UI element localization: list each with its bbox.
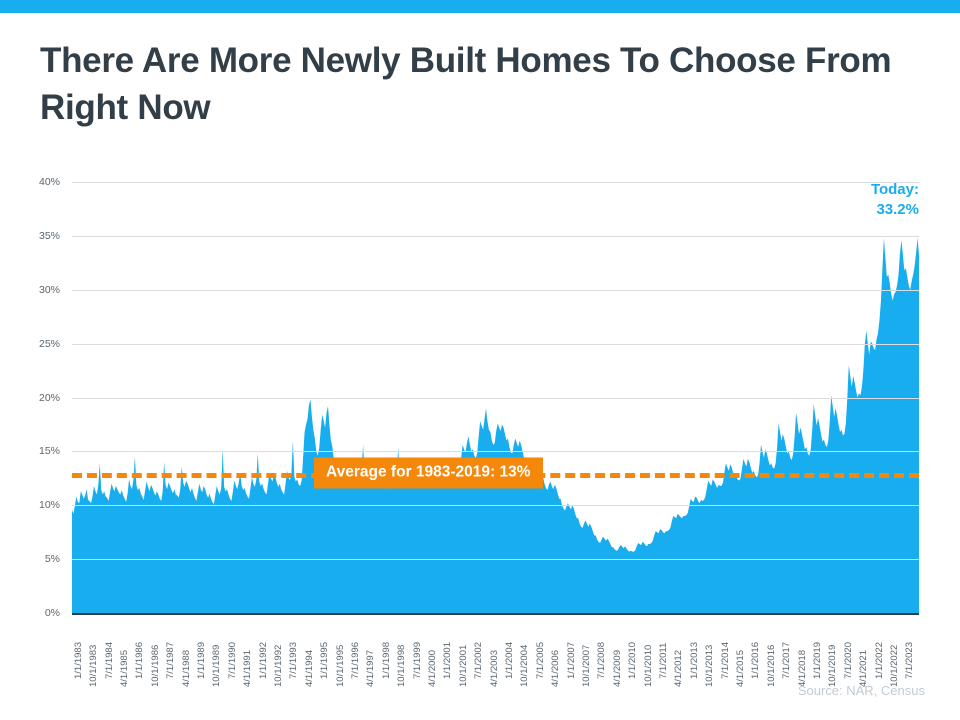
y-axis-tick: 15% bbox=[39, 445, 60, 457]
y-axis-tick: 30% bbox=[39, 284, 60, 296]
x-axis-tick: 7/1/1993 bbox=[288, 642, 299, 679]
x-axis-tick: 1/1/2013 bbox=[689, 642, 700, 679]
x-axis-tick: 10/1/1989 bbox=[211, 645, 222, 687]
x-axis-tick: 4/1/1991 bbox=[242, 650, 253, 687]
area-chart: 0%5%10%15%20%25%30%35%40% Average for 19… bbox=[0, 0, 960, 720]
y-axis-tick: 10% bbox=[39, 499, 60, 511]
x-axis-tick: 1/1/1989 bbox=[196, 642, 207, 679]
x-axis-tick: 4/1/2006 bbox=[550, 650, 561, 687]
x-axis-tick: 4/1/1994 bbox=[304, 650, 315, 687]
y-axis-tick: 0% bbox=[45, 607, 60, 619]
x-axis-tick: 7/1/1990 bbox=[227, 642, 238, 679]
y-axis-tick: 25% bbox=[39, 338, 60, 350]
gridline bbox=[72, 398, 919, 399]
x-axis-tick: 7/1/1987 bbox=[165, 642, 176, 679]
gridline bbox=[72, 505, 919, 506]
x-axis-tick: 7/1/2002 bbox=[473, 642, 484, 679]
x-axis-tick: 1/1/2010 bbox=[627, 642, 638, 679]
x-axis-tick: 7/1/2014 bbox=[720, 642, 731, 679]
y-axis-tick: 35% bbox=[39, 230, 60, 242]
x-axis-tick: 1/1/1986 bbox=[134, 642, 145, 679]
gridline bbox=[72, 182, 919, 183]
x-axis-tick: 4/1/2009 bbox=[612, 650, 623, 687]
today-value: 33.2% bbox=[871, 200, 919, 220]
gridline bbox=[72, 290, 919, 291]
x-axis-tick: 10/1/1995 bbox=[335, 645, 346, 687]
x-axis-tick: 7/1/2020 bbox=[843, 642, 854, 679]
x-axis-tick: 1/1/1983 bbox=[73, 642, 84, 679]
gridline bbox=[72, 559, 919, 560]
x-axis-tick: 1/1/1998 bbox=[381, 642, 392, 679]
y-axis-tick: 40% bbox=[39, 176, 60, 188]
x-axis-tick: 1/1/2019 bbox=[812, 642, 823, 679]
x-axis-tick: 10/1/2019 bbox=[827, 645, 838, 687]
gridline bbox=[72, 344, 919, 345]
x-axis-tick: 10/1/2007 bbox=[581, 645, 592, 687]
x-axis-tick: 4/1/2015 bbox=[735, 650, 746, 687]
x-axis-tick: 1/1/2016 bbox=[750, 642, 761, 679]
x-axis-tick: 10/1/2016 bbox=[766, 645, 777, 687]
x-axis-tick: 10/1/1986 bbox=[150, 645, 161, 687]
x-axis-tick: 1/1/2022 bbox=[874, 642, 885, 679]
x-axis-tick: 7/1/1996 bbox=[350, 642, 361, 679]
x-axis-tick: 4/1/1985 bbox=[119, 650, 130, 687]
x-axis-line bbox=[72, 613, 919, 615]
x-axis-tick: 7/1/2011 bbox=[658, 643, 669, 679]
x-axis-tick: 7/1/1999 bbox=[412, 642, 423, 679]
today-label: Today: bbox=[871, 180, 919, 200]
x-axis-labels: 1/1/198310/1/19837/1/19844/1/19851/1/198… bbox=[72, 617, 919, 687]
x-axis-tick: 4/1/2018 bbox=[797, 650, 808, 687]
x-axis-tick: 10/1/1998 bbox=[396, 645, 407, 687]
x-axis-tick: 1/1/1995 bbox=[319, 642, 330, 679]
x-axis-tick: 7/1/2008 bbox=[596, 642, 607, 679]
x-axis-tick: 7/1/2017 bbox=[781, 642, 792, 679]
x-axis-tick: 4/1/2000 bbox=[427, 650, 438, 687]
source-attribution: Source: NAR, Census bbox=[798, 683, 925, 698]
gridline bbox=[72, 451, 919, 452]
y-axis-tick: 20% bbox=[39, 392, 60, 404]
x-axis-tick: 7/1/1984 bbox=[104, 642, 115, 679]
plot-area: Average for 1983-2019: 13% bbox=[72, 182, 919, 613]
y-axis-tick: 5% bbox=[45, 553, 60, 565]
gridline bbox=[72, 236, 919, 237]
today-annotation: Today: 33.2% bbox=[871, 180, 919, 220]
x-axis-tick: 10/1/2013 bbox=[704, 645, 715, 687]
x-axis-tick: 4/1/2021 bbox=[858, 650, 869, 687]
x-axis-tick: 7/1/2023 bbox=[904, 642, 915, 679]
x-axis-tick: 1/1/2007 bbox=[566, 642, 577, 679]
x-axis-tick: 1/1/2001 bbox=[442, 642, 453, 679]
x-axis-tick: 4/1/1997 bbox=[365, 650, 376, 687]
x-axis-tick: 1/1/1992 bbox=[258, 642, 269, 679]
x-axis-tick: 1/1/2004 bbox=[504, 642, 515, 679]
x-axis-tick: 4/1/2003 bbox=[489, 650, 500, 687]
x-axis-tick: 7/1/2005 bbox=[535, 642, 546, 679]
x-axis-tick: 10/1/2010 bbox=[643, 645, 654, 687]
x-axis-tick: 10/1/1992 bbox=[273, 645, 284, 687]
x-axis-tick: 10/1/2001 bbox=[458, 645, 469, 687]
x-axis-tick: 10/1/2022 bbox=[889, 645, 900, 687]
x-axis-tick: 4/1/1988 bbox=[181, 650, 192, 687]
y-axis-labels: 0%5%10%15%20%25%30%35%40% bbox=[0, 182, 66, 613]
slide-canvas: There Are More Newly Built Homes To Choo… bbox=[0, 0, 960, 720]
x-axis-tick: 10/1/2004 bbox=[519, 645, 530, 687]
x-axis-tick: 4/1/2012 bbox=[673, 650, 684, 687]
average-badge: Average for 1983-2019: 13% bbox=[314, 457, 543, 488]
x-axis-tick: 10/1/1983 bbox=[88, 645, 99, 687]
